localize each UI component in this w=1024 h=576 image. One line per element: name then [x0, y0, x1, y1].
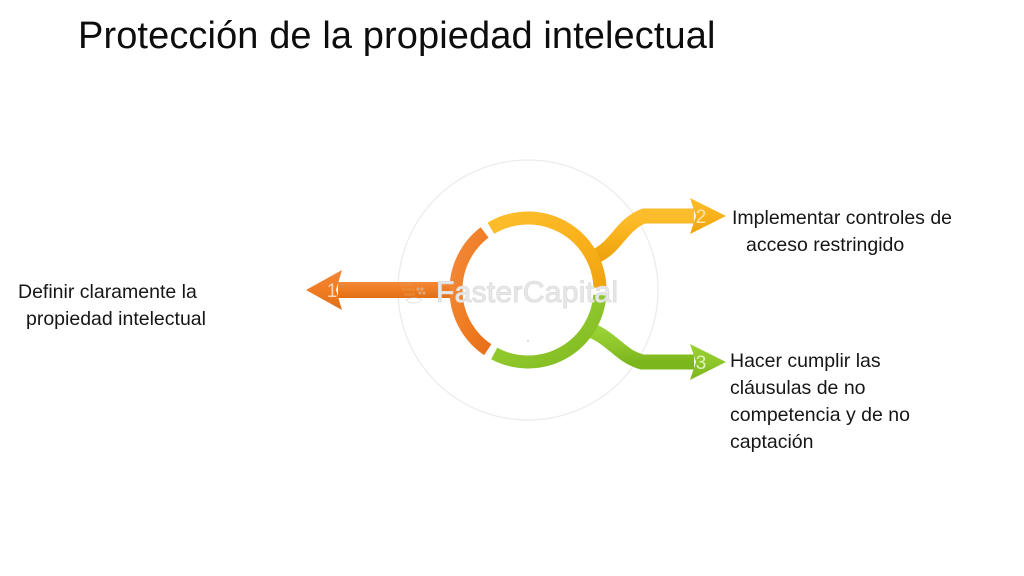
callout-3-line-4: captación — [730, 429, 1010, 456]
callout-2-line-2: acceso restringido — [732, 232, 1020, 259]
arrow-2-number: 2 — [696, 207, 707, 228]
arrow-2-shaft — [596, 216, 694, 256]
callout-3-line-2: cláusulas de no — [730, 375, 1010, 402]
arrow-3-number: 3 — [696, 353, 707, 374]
callout-3-line-1: Hacer cumplir las — [730, 348, 1010, 375]
callout-arrow-1[interactable]: 1 — [306, 270, 458, 310]
donut-segment-3[interactable] — [494, 295, 600, 362]
center-dot — [527, 340, 529, 342]
slide-canvas: Protección de la propiedad intelectual — [0, 0, 1024, 576]
callout-1-line-1: Definir claramente la — [18, 279, 274, 306]
callout-label-3: Hacer cumplir las cláusulas de no compet… — [730, 348, 1010, 456]
callout-label-2: Implementar controles de acceso restring… — [732, 205, 1020, 259]
callout-2-line-1: Implementar controles de — [732, 205, 1020, 232]
callout-arrow-3[interactable]: 3 — [590, 330, 726, 380]
donut-segment-1[interactable] — [456, 232, 488, 349]
callout-1-line-2: propiedad intelectual — [18, 306, 274, 333]
callout-arrow-2[interactable]: 2 — [596, 198, 726, 256]
donut-segment-2[interactable] — [491, 218, 600, 288]
callout-label-1: Definir claramente la propiedad intelect… — [18, 279, 274, 333]
arrow-3-shaft — [590, 330, 694, 362]
callout-3-line-3: competencia y de no — [730, 402, 1010, 429]
diagram-container: 2 3 1 — [0, 0, 1024, 576]
arrow-1-number: 1 — [327, 281, 338, 302]
arrow-1-shaft — [338, 282, 458, 298]
